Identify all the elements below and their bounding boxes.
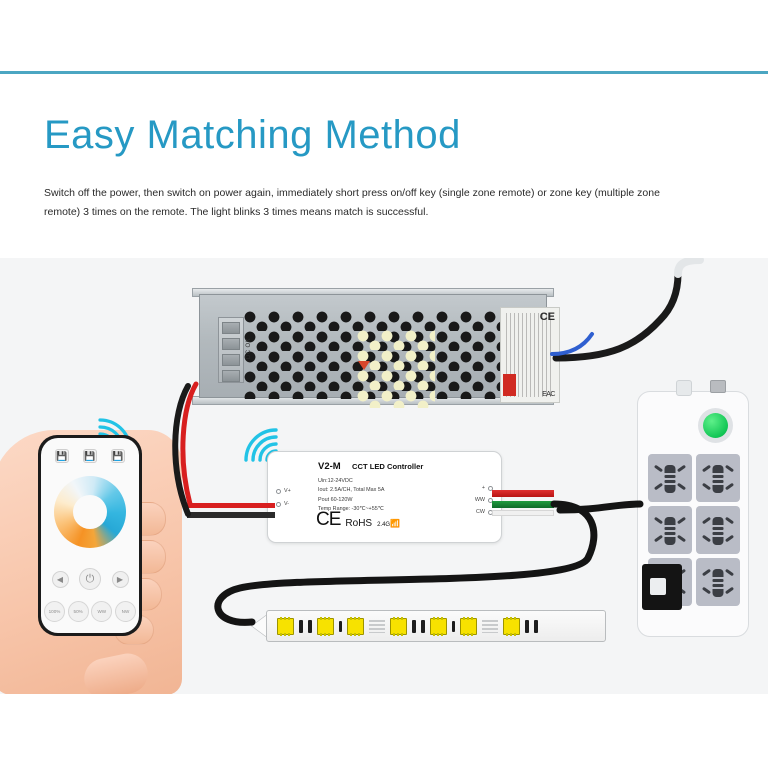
terminal-dot-icon	[276, 502, 281, 507]
wire-black-input	[187, 512, 275, 518]
resistor	[421, 620, 425, 633]
wire-red-output	[492, 490, 554, 497]
psu-dcok-label: DC OK	[246, 338, 252, 359]
led-strip-tip	[252, 615, 267, 637]
resistor	[308, 620, 312, 633]
resistor	[525, 620, 529, 633]
power-indicator-light-icon	[703, 413, 728, 438]
zone-button-3[interactable]: 💾	[111, 449, 125, 463]
psu-input-terminal-block	[218, 317, 244, 383]
terminal-dot-icon	[276, 489, 281, 494]
resistor	[299, 620, 303, 633]
remote-preset-row: 100% 50% WW NW	[44, 601, 136, 622]
resistor	[534, 620, 538, 633]
wire-red-input	[187, 503, 275, 508]
remote-faceplate: 💾 💾 💾 ◀ ⏻ ▶ 100% 50% WW NW	[41, 438, 139, 633]
controller-type-label: CCT LED Controller	[352, 462, 423, 471]
remote-zone-row: 💾 💾 💾	[41, 449, 139, 463]
remote-control-row: ◀ ⏻ ▶	[41, 568, 139, 590]
preset-button-nw[interactable]: NW	[115, 601, 136, 622]
power-strip	[637, 391, 749, 637]
solder-pad	[482, 620, 498, 633]
led-chip	[390, 618, 407, 635]
instruction-paragraph: Switch off the power, then switch on pow…	[44, 184, 674, 223]
preset-button-100[interactable]: 100%	[44, 601, 65, 622]
psu-rating-label: CE EAC	[500, 307, 560, 403]
led-controller: V2-M CCT LED Controller Uin:12-24VDC Iou…	[267, 451, 502, 543]
socket[interactable]	[696, 454, 740, 502]
led-chip	[317, 618, 334, 635]
power-strip-top-plug	[710, 380, 726, 393]
preset-button-ww[interactable]: WW	[91, 601, 112, 622]
thumb	[81, 650, 152, 694]
preset-button-50[interactable]: 50%	[68, 601, 89, 622]
led-chip	[430, 618, 447, 635]
psu-red-tab	[503, 374, 516, 396]
terminal-ww: WW	[475, 497, 493, 503]
plugged-in-plug	[642, 564, 682, 610]
led-chip	[503, 618, 520, 635]
terminal-v-minus-label: V-	[284, 501, 289, 507]
led-chip	[347, 618, 364, 635]
cable-power-strip-cord	[678, 260, 700, 274]
spec-pout: Pout 60-120W	[318, 496, 384, 505]
ce-mark-icon: CE	[316, 510, 340, 529]
eac-mark-icon: EAC	[542, 391, 555, 398]
socket[interactable]	[696, 506, 740, 554]
rf-remote-control[interactable]: 💾 💾 💾 ◀ ⏻ ▶ 100% 50% WW NW	[38, 435, 142, 636]
led-chip	[277, 618, 294, 635]
power-indicator	[698, 408, 733, 443]
led-strip	[266, 610, 606, 642]
resistor	[339, 621, 342, 632]
spec-uin: Uin:12-24VDC	[318, 477, 384, 486]
terminal-v-plus: V+	[276, 488, 291, 494]
psu-body: DC OK CE EAC	[199, 294, 547, 398]
controller-model-label: V2-M	[318, 461, 341, 472]
wire-white-output	[492, 510, 554, 516]
power-button[interactable]: ⏻	[79, 568, 101, 590]
terminal-v-plus-label: V+	[284, 488, 291, 494]
signal-icon: 📶	[390, 519, 400, 528]
power-strip-cord-entry	[676, 380, 692, 396]
led-chip	[460, 618, 477, 635]
ce-mark-icon: CE	[540, 311, 555, 323]
resistor	[452, 621, 455, 632]
zone-button-2[interactable]: 💾	[83, 449, 97, 463]
next-button[interactable]: ▶	[112, 571, 129, 588]
cct-ring-center	[73, 495, 107, 529]
resistor	[412, 620, 416, 633]
diagram-panel: DC OK CE EAC V2-M	[0, 258, 768, 694]
page-root: Easy Matching Method Switch off the powe…	[0, 0, 768, 768]
solder-pad	[369, 620, 385, 633]
terminal-cw-label: CW	[476, 509, 485, 515]
socket[interactable]	[648, 454, 692, 502]
terminal-ww-label: WW	[475, 497, 485, 503]
spec-iout: Iout: 2.5A/CH, Total Max 5A	[318, 486, 384, 495]
socket[interactable]	[696, 558, 740, 606]
rohs-mark-label: RoHS	[345, 518, 372, 529]
terminal-v-minus: V-	[276, 501, 289, 507]
prev-button[interactable]: ◀	[52, 571, 69, 588]
terminal-plus-label: +	[482, 485, 485, 491]
psu-vent-grid	[244, 311, 506, 399]
socket[interactable]	[648, 506, 692, 554]
band-label: 2.4G📶	[377, 519, 400, 528]
color-temperature-ring[interactable]	[54, 476, 126, 548]
power-supply-unit: DC OK CE EAC	[185, 286, 560, 406]
cable-psu-to-power-strip	[556, 274, 678, 358]
controller-certification-marks: CE RoHS 2.4G📶	[316, 510, 400, 529]
cable-to-wall-plug	[560, 504, 640, 510]
terminal-cw: CW	[476, 509, 493, 515]
psu-arrow-icon	[358, 361, 370, 370]
zone-button-1[interactable]: 💾	[55, 449, 69, 463]
header-rule	[0, 71, 768, 74]
wire-green-output	[492, 501, 554, 508]
page-title: Easy Matching Method	[44, 113, 461, 157]
plug-face	[650, 578, 666, 595]
